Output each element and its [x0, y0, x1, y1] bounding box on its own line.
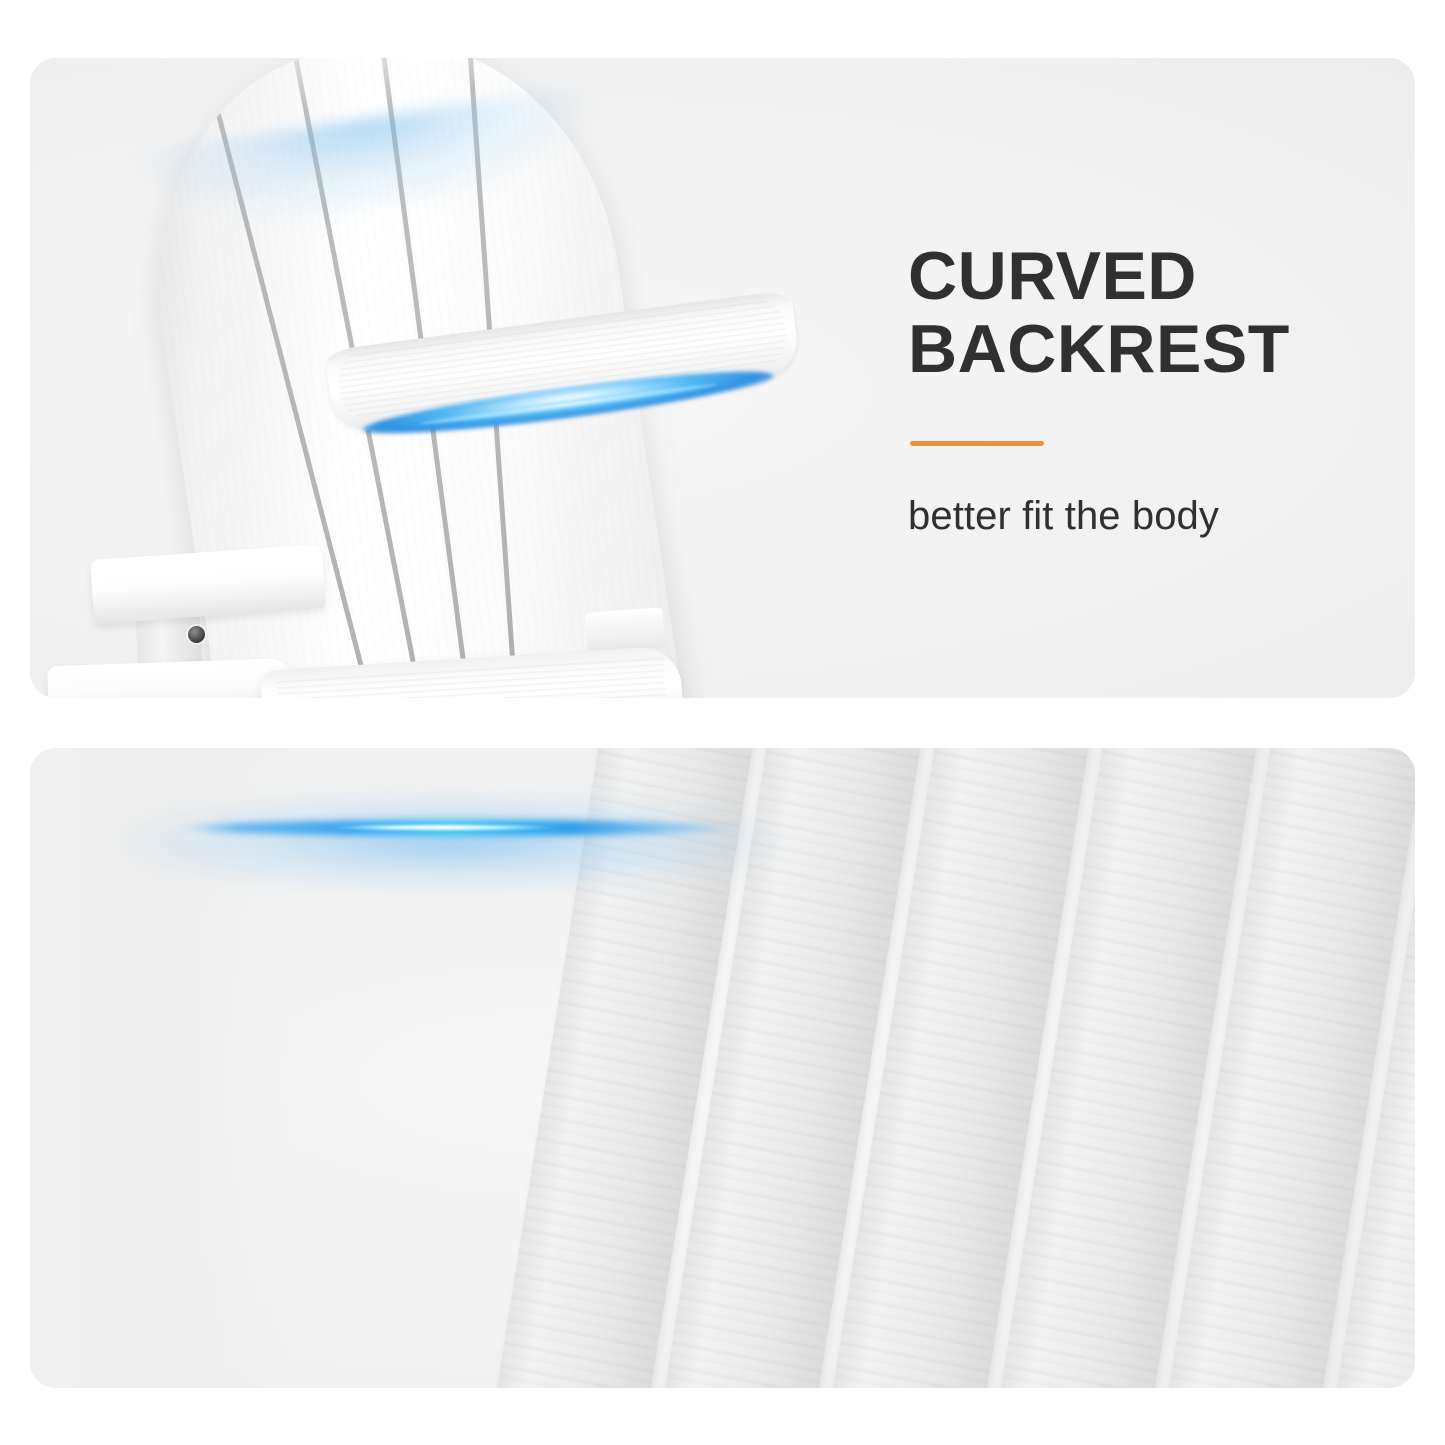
panel-curved-backrest: CURVED BACKREST better fit the body [30, 58, 1415, 698]
armrest-led-core [330, 825, 560, 830]
backrest-text-block: CURVED BACKREST better fit the body [908, 240, 1388, 540]
backrest-title: CURVED BACKREST [908, 240, 1388, 387]
panel-wide-armrests: WIDE ARMRESTS for better arm relaxation [30, 748, 1415, 1388]
armrest-screw-icon [188, 626, 205, 643]
backrest-subtitle: better fit the body [908, 492, 1388, 540]
right-armrest-stub [585, 607, 666, 652]
armrest-led-glow [120, 796, 780, 892]
product-feature-page: CURVED BACKREST better fit the body [0, 0, 1445, 1445]
armrest-product-photo [30, 748, 1415, 1388]
backrest-accent-rule [910, 441, 1044, 446]
